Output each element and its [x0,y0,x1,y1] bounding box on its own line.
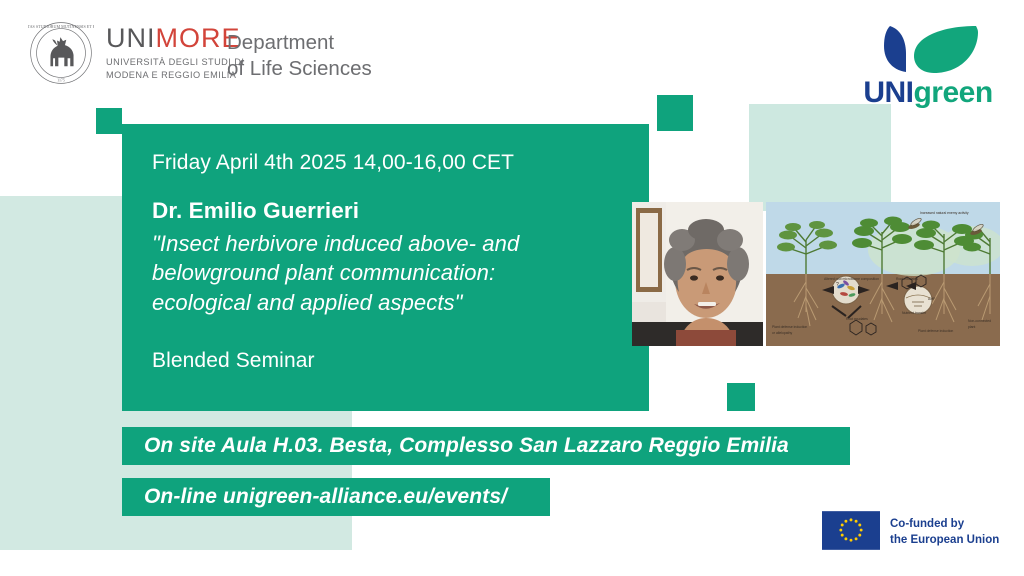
unigreen-wordmark-uni: UNI [863,76,913,109]
unigreen-wordmark: UNIgreen [858,78,998,108]
eu-funding-text: Co-funded by the European Union [890,517,999,548]
svg-text:Non-connected: Non-connected [968,319,991,323]
talk-title-line1: "Insect herbivore induced above- and [152,229,649,258]
decorative-mint-block-right [749,104,891,211]
svg-text:?: ? [836,282,839,288]
eu-funding-line2: the European Union [890,533,999,549]
svg-text:Plant defense induction: Plant defense induction [772,325,807,329]
event-date-time: Friday April 4th 2025 14,00-16,00 CET [152,150,649,175]
svg-text:AMF: AMF [928,297,935,301]
unimore-subtitle: UNIVERSITÀ DEGLI STUDI DI MODENA E REGGI… [106,56,244,80]
poster-header: UNIVERSITAS STUDIORUM MUTINENSIS ET REGI… [0,0,1024,104]
svg-text:UNIVERSITAS STUDIORUM MUTINENS: UNIVERSITAS STUDIORUM MUTINENSIS ET REGI… [28,24,94,29]
talk-title-line3: ecological and applied aspects" [152,288,649,317]
eu-funding-line1: Co-funded by [890,517,999,533]
unimore-subtitle-line2: MODENA E REGGIO EMILIA [106,69,244,81]
on-site-location-bar: On site Aula H.03. Besta, Complesso San … [122,427,850,465]
unimore-subtitle-line1: UNIVERSITÀ DEGLI STUDI DI [106,56,244,68]
unimore-wordmark-uni: UNI [106,23,156,53]
seminar-poster: UNIVERSITAS STUDIORUM MUTINENSIS ET REGI… [0,0,1024,576]
eu-flag-icon [822,511,880,555]
main-info-panel: Friday April 4th 2025 14,00-16,00 CET Dr… [122,124,649,411]
department-name: Department of Life Sciences [227,30,372,82]
eu-funding-logo: Co-funded by the European Union [822,511,999,555]
svg-text:Plant defense induction: Plant defense induction [918,329,953,333]
svg-text:Root exudates: Root exudates [846,317,868,321]
decorative-green-square-bottom [727,383,755,411]
university-seal-icon: UNIVERSITAS STUDIORUM MUTINENSIS ET REGI… [28,20,94,86]
unimore-logo: UNIVERSITAS STUDIORUM MUTINENSIS ET REGI… [28,20,244,86]
talk-title-line2: belowground plant communication: [152,258,649,287]
talk-title: "Insect herbivore induced above- and bel… [152,229,649,317]
svg-text:Increased natural enemy activi: Increased natural enemy activity [920,211,969,215]
svg-text:Nutrient transfer: Nutrient transfer [902,311,927,315]
unigreen-leaf-icon [858,22,998,76]
unimore-wordmark: UNIMORE [106,25,244,52]
department-line2: of Life Sciences [227,56,372,82]
svg-text:plant: plant [968,325,975,329]
svg-text:Root exudates: Root exudates [896,277,918,281]
svg-text:1175: 1175 [57,77,65,82]
svg-text:Altered root microbiome compos: Altered root microbiome composition [824,277,879,281]
unigreen-wordmark-green: green [913,76,992,109]
department-line1: Department [227,30,372,56]
speaker-name: Dr. Emilio Guerrieri [152,198,649,224]
speaker-portrait-photo [632,202,763,346]
unigreen-logo: UNIgreen [858,22,998,108]
plant-root-communication-diagram: Increased natural enemy activity Altered… [766,202,1000,346]
on-line-link-bar[interactable]: On-line unigreen-alliance.eu/events/ [122,478,550,516]
svg-text:or allelopathy: or allelopathy [772,331,792,335]
decorative-green-square-top-left [96,108,122,134]
seminar-type: Blended Seminar [152,349,649,373]
